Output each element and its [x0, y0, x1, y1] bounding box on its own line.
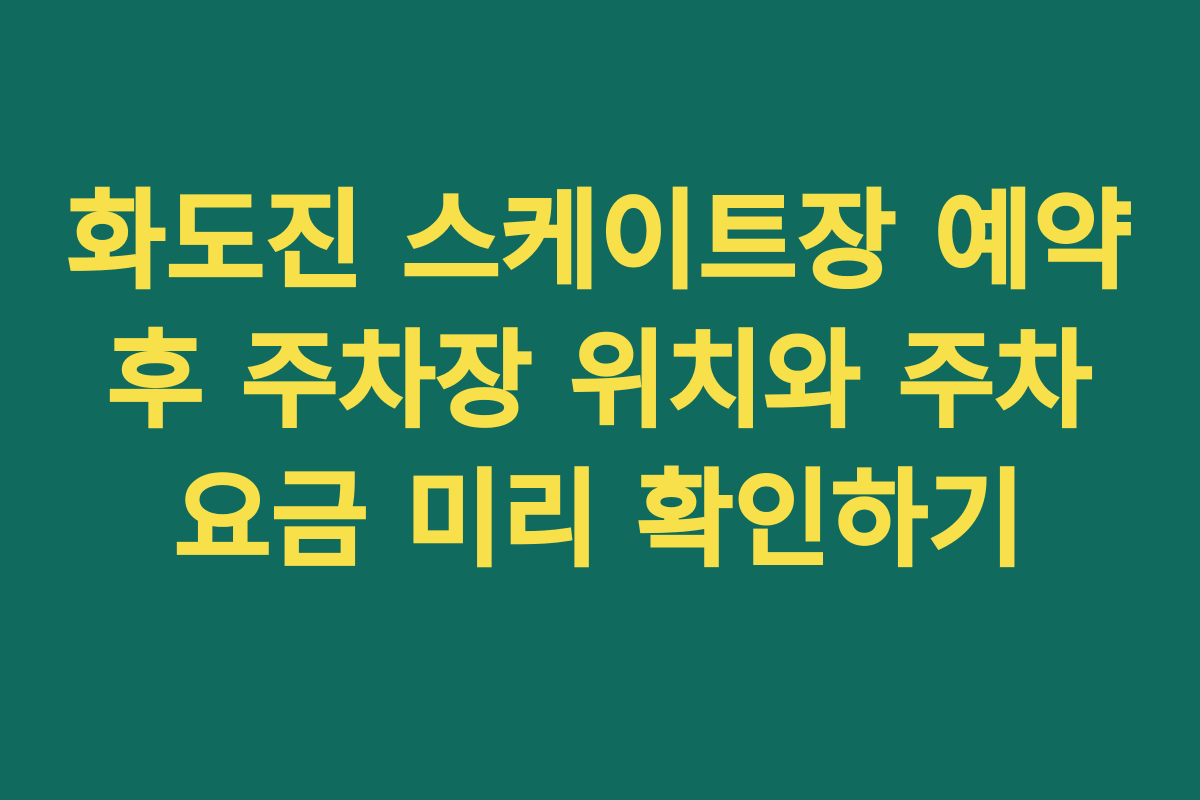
headline-line-1: 화도진 스케이트장 예약 [68, 173, 1133, 312]
banner-canvas: 화도진 스케이트장 예약 후 주차장 위치와 주차 요금 미리 확인하기 [0, 0, 1200, 800]
headline-line-3: 요금 미리 확인하기 [175, 451, 1026, 590]
headline-line-2: 후 주차장 위치와 주차 [107, 312, 1092, 451]
headline-block: 화도진 스케이트장 예약 후 주차장 위치와 주차 요금 미리 확인하기 [40, 173, 1160, 590]
